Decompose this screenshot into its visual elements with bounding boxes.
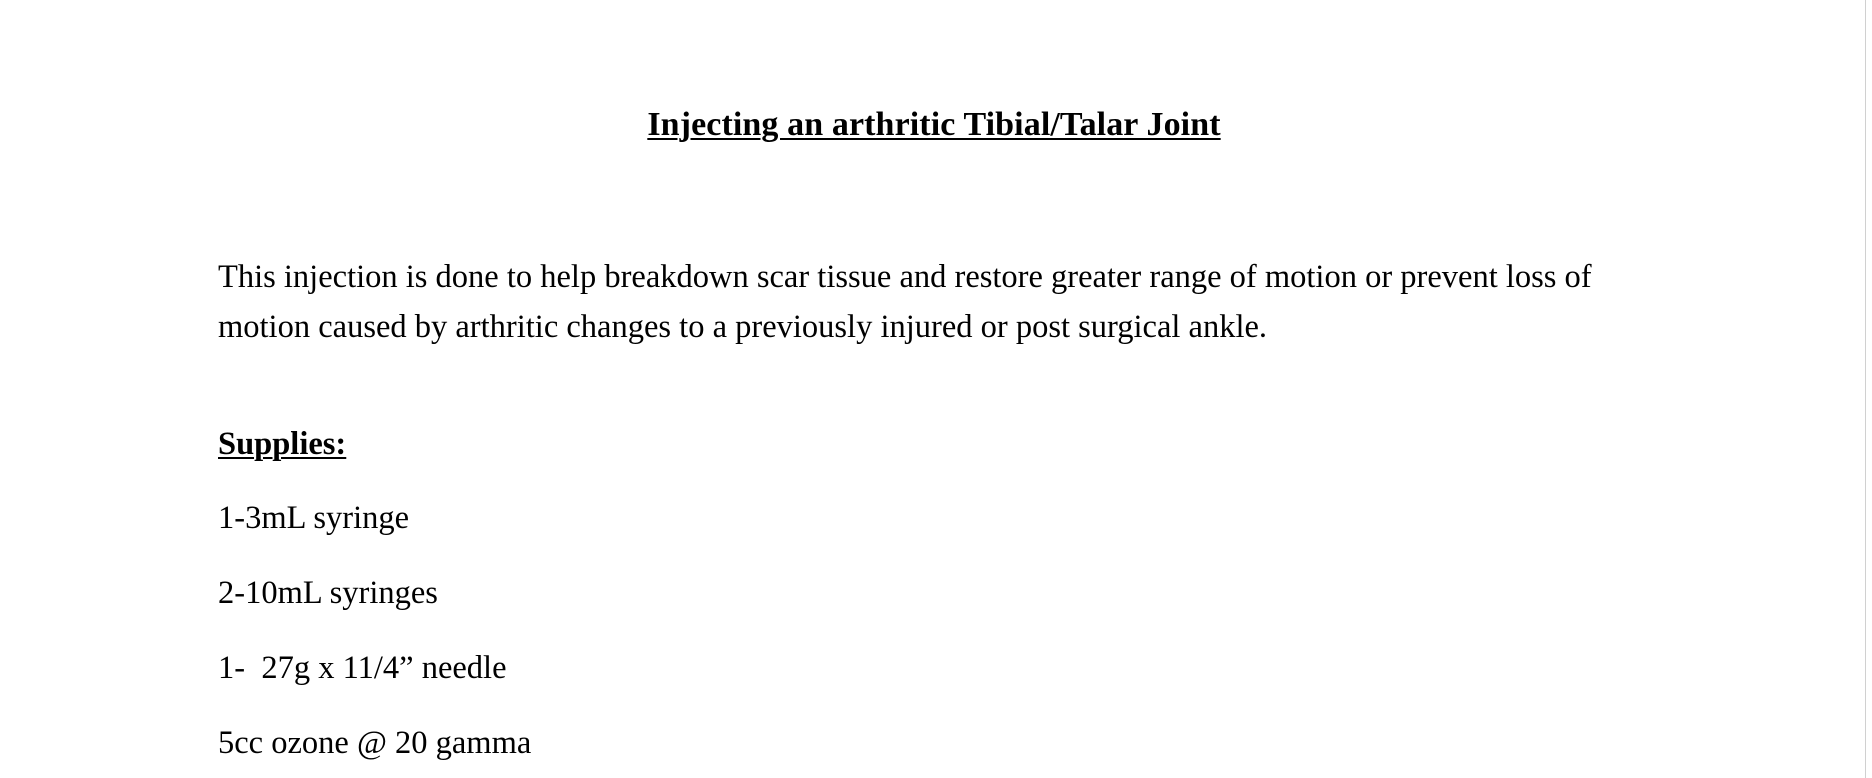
supply-item: 1- 27g x 11/4” needle xyxy=(218,652,507,685)
supplies-heading-text: Supplies: xyxy=(218,426,346,462)
page-right-gutter xyxy=(1866,0,1872,778)
supplies-heading: Supplies: xyxy=(218,428,346,461)
supply-item: 2-10mL syringes xyxy=(218,577,438,610)
supply-item: 5cc ozone @ 20 gamma xyxy=(218,727,531,760)
page-right-edge-rule xyxy=(1865,0,1866,778)
intro-paragraph: This injection is done to help breakdown… xyxy=(218,252,1643,352)
page-title: Injecting an arthritic Tibial/Talar Join… xyxy=(218,108,1650,142)
supply-item: 1-3mL syringe xyxy=(218,502,409,535)
page-title-text: Injecting an arthritic Tibial/Talar Join… xyxy=(647,106,1220,143)
document-page: Injecting an arthritic Tibial/Talar Join… xyxy=(0,0,1872,778)
